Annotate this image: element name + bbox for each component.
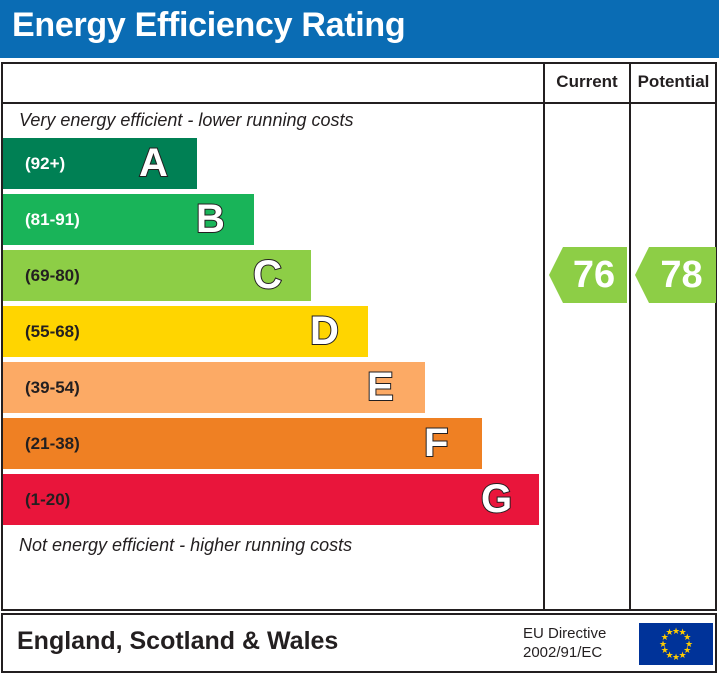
band-bar-b: (81-91)B [3, 194, 254, 245]
band-letter-g: G [481, 479, 512, 519]
page-title: Energy Efficiency Rating [12, 6, 405, 45]
footer-region-label: England, Scotland & Wales [17, 627, 338, 656]
directive-line-2: 2002/91/EC [523, 644, 631, 663]
column-header-current: Current [545, 72, 629, 92]
band-letter-a: A [139, 143, 168, 183]
band-range-d: (55-68) [25, 322, 80, 342]
directive-line-1: EU Directive [523, 625, 631, 644]
band-bar-d: (55-68)D [3, 306, 368, 357]
rating-band-d: (55-68)D [3, 306, 368, 357]
band-bar-e: (39-54)E [3, 362, 425, 413]
band-range-b: (81-91) [25, 210, 80, 230]
eu-star-icon: ★ [665, 628, 674, 637]
rating-band-b: (81-91)B [3, 194, 254, 245]
epc-certificate: Energy Efficiency Rating Current Potenti… [0, 0, 719, 675]
band-letter-d: D [310, 311, 339, 351]
band-range-e: (39-54) [25, 378, 80, 398]
band-letter-f: F [424, 423, 448, 463]
caption-efficient: Very energy efficient - lower running co… [19, 110, 354, 131]
rating-band-f: (21-38)F [3, 418, 482, 469]
rating-marker-current: 76 [549, 247, 627, 303]
band-range-f: (21-38) [25, 434, 80, 454]
band-letter-c: C [253, 255, 282, 295]
rating-band-e: (39-54)E [3, 362, 425, 413]
rating-marker-potential: 78 [635, 247, 716, 303]
footer: England, Scotland & Wales EU Directive 2… [1, 613, 717, 673]
rating-table: Current Potential Very energy efficient … [1, 62, 717, 611]
band-range-c: (69-80) [25, 266, 80, 286]
band-bar-f: (21-38)F [3, 418, 482, 469]
caption-inefficient: Not energy efficient - higher running co… [19, 535, 352, 556]
eu-flag-icon: ★★★★★★★★★★★★ [639, 623, 713, 665]
band-letter-e: E [367, 367, 394, 407]
band-bar-a: (92+)A [3, 138, 197, 189]
potential-column-divider [629, 64, 631, 609]
band-letter-b: B [196, 199, 225, 239]
header-banner: Energy Efficiency Rating [0, 0, 719, 58]
rating-band-g: (1-20)G [3, 474, 539, 525]
band-range-a: (92+) [25, 154, 65, 174]
current-column-divider [543, 64, 545, 609]
band-bar-g: (1-20)G [3, 474, 539, 525]
header-divider [3, 102, 716, 104]
band-range-g: (1-20) [25, 490, 70, 510]
rating-value-current: 76 [561, 256, 615, 294]
footer-directive: EU Directive 2002/91/EC [523, 625, 631, 663]
column-header-potential: Potential [631, 72, 716, 92]
rating-value-potential: 78 [648, 256, 702, 294]
rating-band-a: (92+)A [3, 138, 197, 189]
rating-band-c: (69-80)C [3, 250, 311, 301]
band-bar-c: (69-80)C [3, 250, 311, 301]
rating-bands: (92+)A(81-91)B(69-80)C(55-68)D(39-54)E(2… [3, 138, 541, 530]
